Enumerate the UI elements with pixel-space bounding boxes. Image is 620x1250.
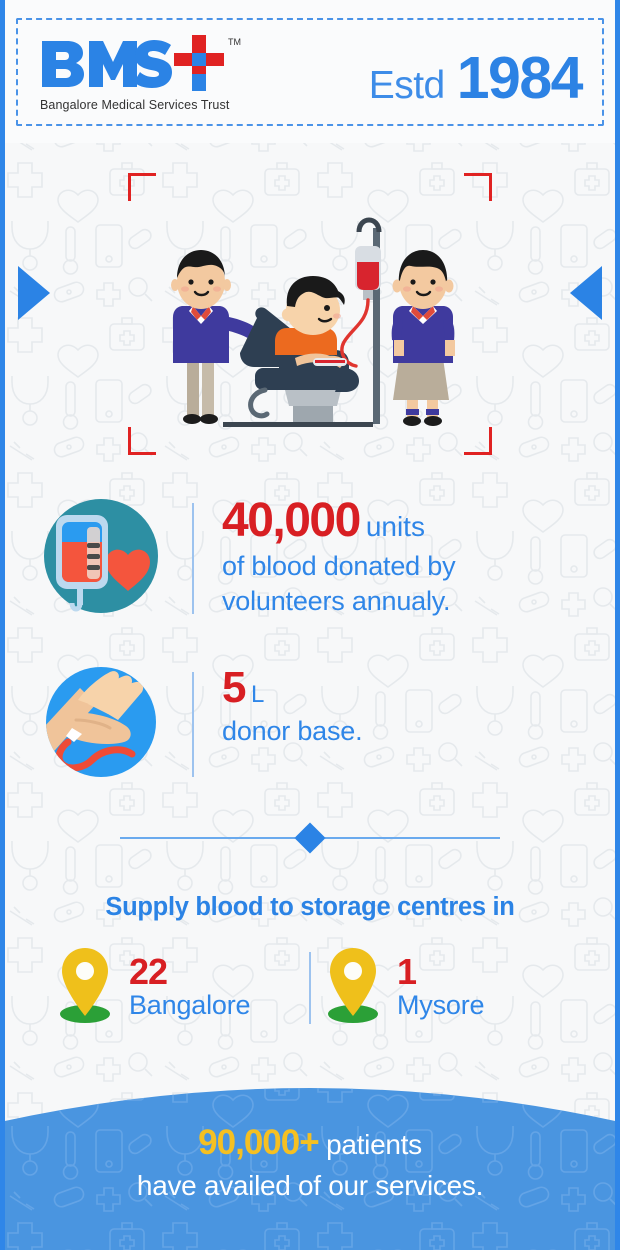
arrow-right-triangle-icon[interactable] <box>18 266 50 320</box>
page-edge-right <box>615 0 620 1250</box>
header: TM Bangalore Medical Services Trust Estd… <box>0 0 620 143</box>
stat-value-5: 5 <box>222 666 245 710</box>
logo-tagline: Bangalore Medical Services Trust <box>40 98 245 112</box>
estd-label: Estd <box>369 64 445 108</box>
centre-mysore: 1 Mysore <box>323 946 565 1029</box>
divider-diamond-icon <box>294 822 325 853</box>
stat-donor-base-text: 5 L donor base. <box>194 666 362 749</box>
footer-line-1: 90,000+ patients <box>0 1122 620 1165</box>
centre-city: Bangalore <box>129 989 250 1021</box>
attendant-right <box>392 250 455 426</box>
stat-line-1: of blood donated by <box>222 549 455 584</box>
stat-unit-lakh: L <box>251 681 264 709</box>
footer-banner: 90,000+ patients have availed of our ser… <box>0 1060 620 1250</box>
stat-value-40000: 40,000 <box>222 497 360 545</box>
footer-patient-label: patients <box>319 1129 422 1160</box>
centre-bangalore-text: 22 Bangalore <box>129 955 250 1021</box>
illustration-frame <box>110 168 510 458</box>
blood-donation-scene <box>145 190 475 440</box>
bmst-logo-mark: TM <box>40 33 245 95</box>
hand-blood-tube-icon <box>42 666 160 783</box>
centre-count: 22 <box>129 955 250 989</box>
map-pin-icon <box>55 946 115 1029</box>
bmst-logo: TM Bangalore Medical Services Trust <box>40 33 245 113</box>
footer-text: 90,000+ patients have availed of our ser… <box>0 1122 620 1206</box>
divider-line-right <box>325 837 500 839</box>
centre-count: 1 <box>397 955 484 989</box>
established-block: Estd 1984 <box>369 44 582 112</box>
infographic-root: TM Bangalore Medical Services Trust Estd… <box>0 0 620 1250</box>
centre-mysore-text: 1 Mysore <box>397 955 484 1021</box>
logo-trademark: TM <box>228 37 241 47</box>
blood-bag-heart-icon <box>42 497 160 620</box>
section-divider <box>120 818 500 858</box>
stat-line-1: donor base. <box>222 714 362 749</box>
footer-patient-count: 90,000+ <box>198 1123 319 1162</box>
map-pin-icon <box>323 946 383 1029</box>
arrow-left-triangle-icon[interactable] <box>570 266 602 320</box>
stat-unit-units: units <box>366 511 425 543</box>
centres-divider-rule <box>309 952 311 1024</box>
estd-year: 1984 <box>457 44 582 112</box>
stat-line-2: volunteers annualy. <box>222 584 455 619</box>
centre-bangalore: 22 Bangalore <box>55 946 297 1029</box>
stat-blood-units-text: 40,000 units of blood donated by volunte… <box>194 497 455 619</box>
page-edge-left <box>0 0 5 1250</box>
centre-city: Mysore <box>397 989 484 1021</box>
supply-heading: Supply blood to storage centres in <box>0 893 620 922</box>
stat-blood-units: 40,000 units of blood donated by volunte… <box>42 497 572 620</box>
divider-line-left <box>120 837 295 839</box>
stat-donor-base: 5 L donor base. <box>42 666 572 783</box>
storage-centres: 22 Bangalore 1 Mysore <box>0 935 620 1040</box>
footer-line-2: have availed of our services. <box>0 1165 620 1206</box>
